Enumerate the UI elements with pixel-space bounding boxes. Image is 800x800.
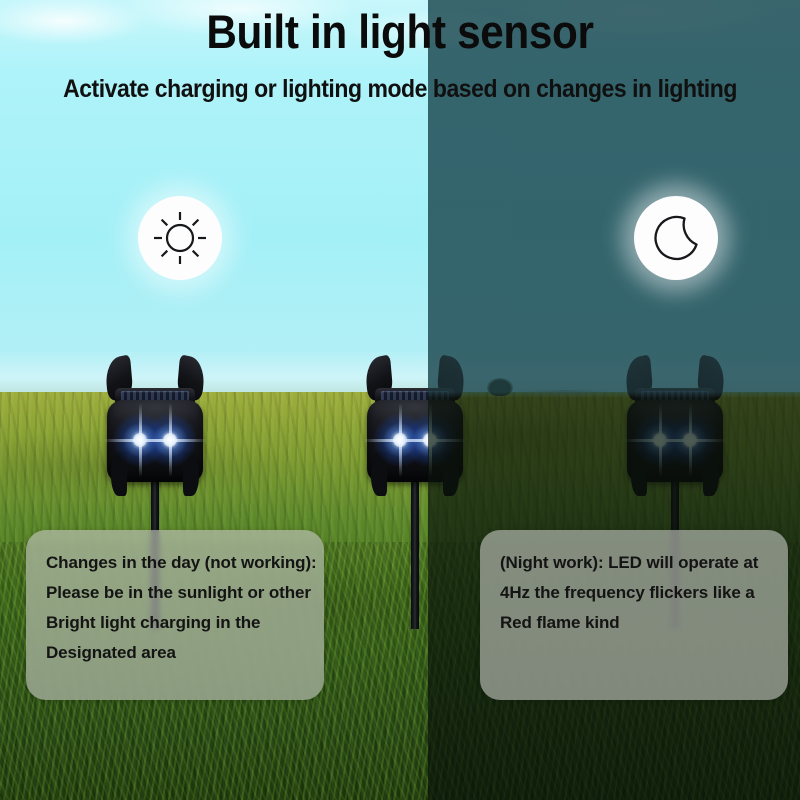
ground-stake [411, 479, 419, 629]
solar-repeller-device [99, 357, 211, 507]
product-feature-banner: Built in light sensor Activate charging … [0, 0, 800, 800]
led-eye-right [143, 413, 197, 467]
callout-line: Changes in the day (not working): [46, 552, 304, 573]
night-mode-badge [634, 196, 718, 280]
callout-line: Bright light charging in the [46, 612, 304, 633]
sun-icon [152, 210, 208, 266]
day-mode-callout: Changes in the day (not working): Please… [26, 530, 324, 700]
callout-line: 4Hz the frequency flickers like a [500, 582, 768, 603]
moon-icon [649, 211, 703, 265]
callout-line: (Night work): LED will operate at [500, 552, 768, 573]
page-title: Built in light sensor [40, 4, 760, 60]
led-core [163, 433, 177, 447]
night-mode-callout: (Night work): LED will operate at 4Hz th… [480, 530, 788, 700]
callout-line: Please be in the sunlight or other [46, 582, 304, 603]
callout-line: Designated area [46, 642, 304, 663]
page-subtitle: Activate charging or lighting mode based… [32, 74, 768, 104]
day-mode-badge [138, 196, 222, 280]
callout-line: Red flame kind [500, 612, 768, 633]
